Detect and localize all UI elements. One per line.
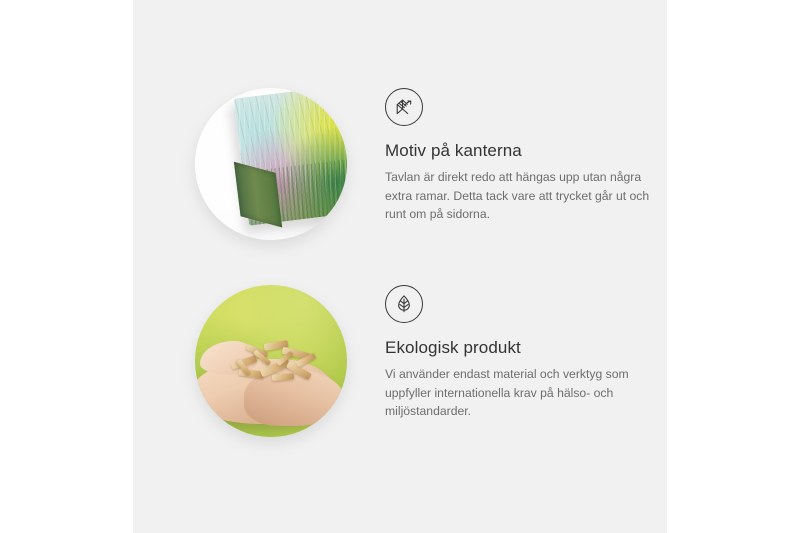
canvas-print-corner-photo [195,88,347,240]
feature-description: Tavlan är direkt redo att hängas upp uta… [385,168,655,224]
feature-description: Vi använder endast material och verktyg … [385,365,655,421]
wood-chips-pile [227,336,326,391]
content-panel: Motiv på kanterna Tavlan är direkt redo … [133,0,667,533]
grass-background [195,285,347,437]
hands-holding-wood-chips-photo [195,285,347,437]
canvas-edge-print-icon [385,88,423,126]
canvas-print-scene [195,88,347,240]
feature-title: Motiv på kanterna [385,141,665,161]
leaf-icon [385,285,423,323]
feature-text-block: Motiv på kanterna Tavlan är direkt redo … [385,88,665,224]
feature-title: Ekologisk produkt [385,338,665,358]
product-feature-banner: Motiv på kanterna Tavlan är direkt redo … [0,0,800,533]
hands-group [195,340,347,428]
feature-text-block: Ekologisk produkt Vi använder endast mat… [385,285,665,421]
